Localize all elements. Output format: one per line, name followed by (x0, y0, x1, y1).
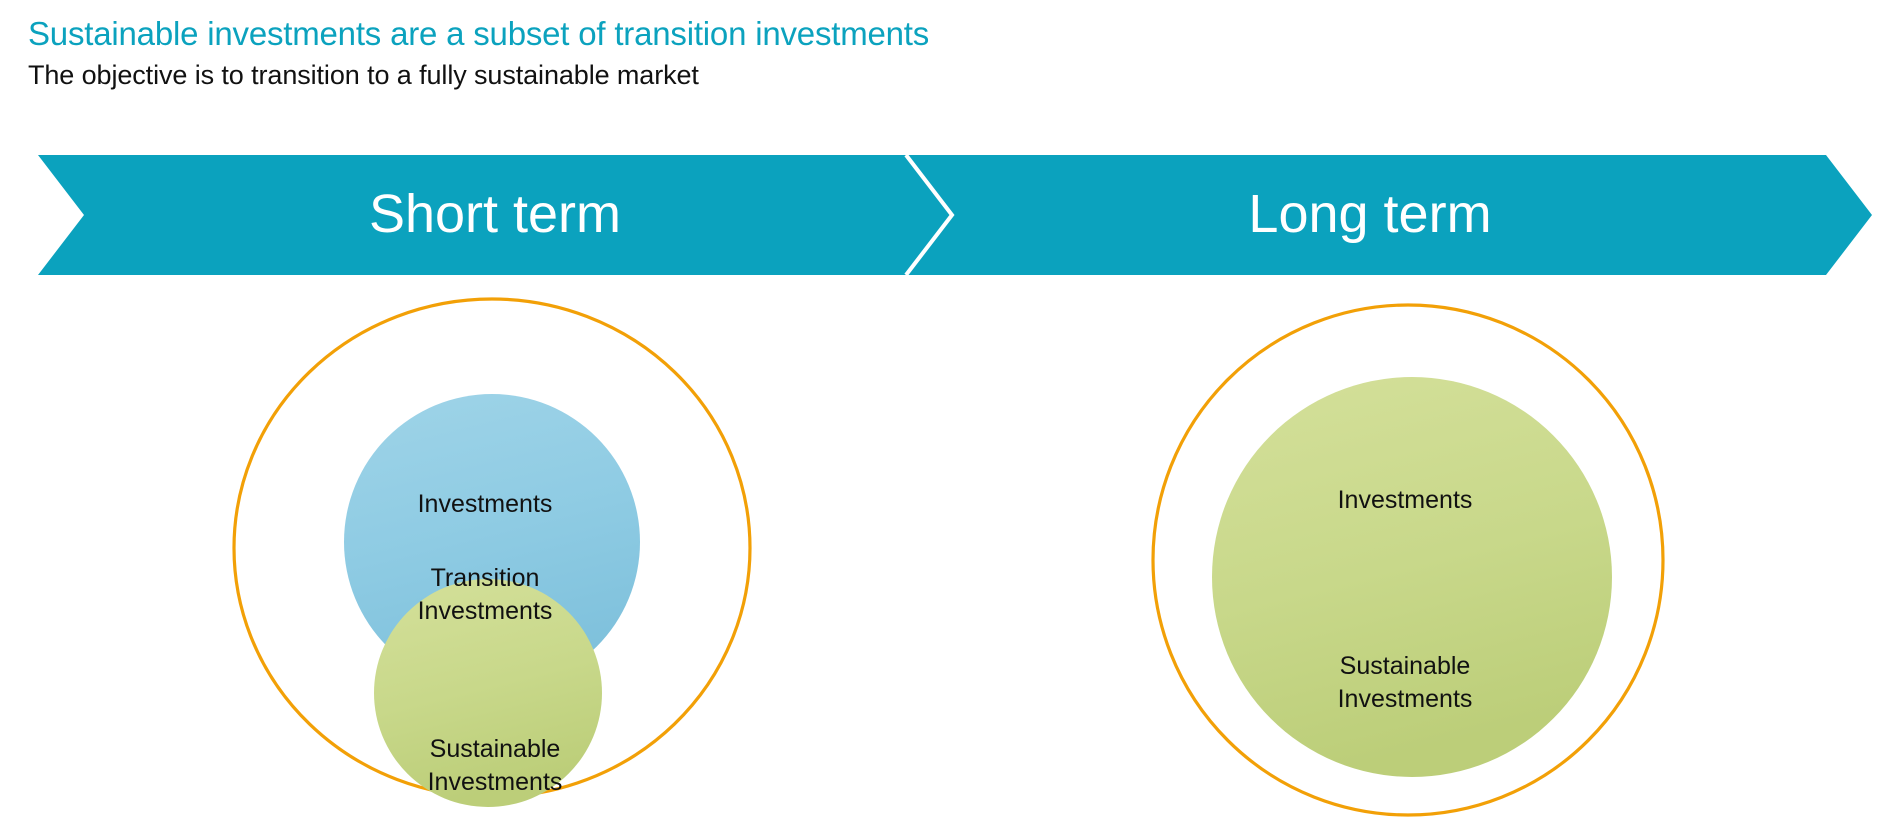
page-title: Sustainable investments are a subset of … (28, 12, 929, 56)
circle-sustainable-investments (374, 579, 602, 807)
banner-label-long-term: Long term (960, 152, 1780, 276)
venn-diagram-long-term: Investments Sustainable Investments (1150, 290, 1710, 840)
page-subtitle: The objective is to transition to a full… (28, 56, 699, 94)
venn-diagram-short-term: Investments Transition Investments Susta… (200, 290, 800, 840)
banner-label-short-term: Short term (85, 152, 905, 276)
circle-sustainable-investments (1212, 377, 1612, 777)
